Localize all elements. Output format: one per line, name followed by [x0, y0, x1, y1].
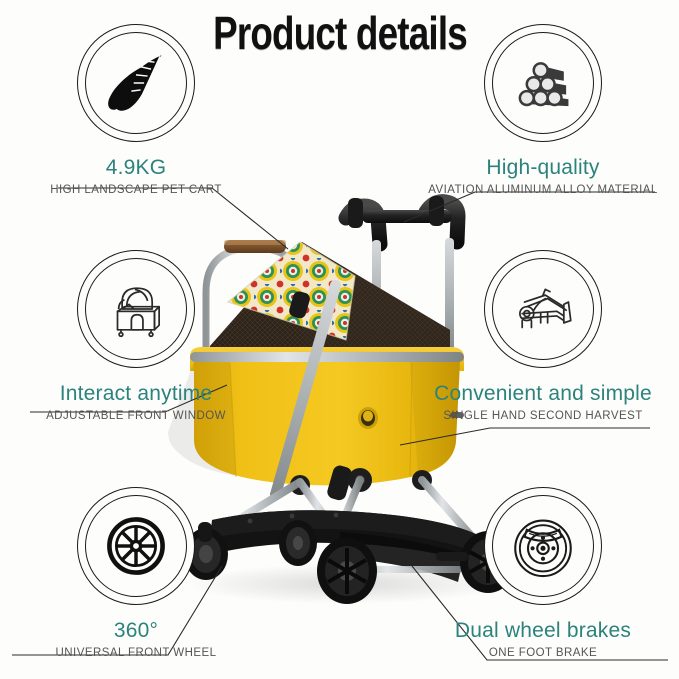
folded-stroller-icon [506, 272, 580, 346]
feature-fold-title: Convenient and simple [423, 382, 663, 406]
feature-weight-title: 4.9KG [16, 156, 256, 180]
feature-wheel-subtitle: UNIVERSAL FRONT WHEEL [16, 647, 256, 659]
feature-interact-subtitle: ADJUSTABLE FRONT WINDOW [16, 410, 256, 422]
feature-weight-subtitle: HIGH LANDSCAPE PET CART [16, 184, 256, 196]
brake-disc-icon [506, 509, 580, 583]
feature-quality-subtitle: AVIATION ALUMINUM ALLOY MATERIAL [423, 184, 663, 196]
feature-fold: Convenient and simple SINGLE HAND SECOND… [423, 250, 663, 422]
feature-wheel-title: 360° [16, 619, 256, 643]
feature-brake-subtitle: ONE FOOT BRAKE [423, 647, 663, 659]
brake-disc-icon-circle [484, 487, 602, 605]
leader-line-weight [58, 188, 288, 249]
page-title-wrap: Product details [140, 6, 540, 60]
feature-quality-title: High-quality [423, 156, 663, 180]
feature-interact-title: Interact anytime [16, 382, 256, 406]
feature-fold-subtitle: SINGLE HAND SECOND HARVEST [423, 410, 663, 422]
pet-carrier-window-icon-circle [77, 250, 195, 368]
feature-brake-title: Dual wheel brakes [423, 619, 663, 643]
feature-interact: Interact anytime ADJUSTABLE FRONT WINDOW [16, 250, 256, 422]
spoked-wheel-icon-circle [77, 487, 195, 605]
page-title: Product details [180, 6, 500, 60]
leader-line-quality [404, 192, 655, 222]
feature-wheel: 360° UNIVERSAL FRONT WHEEL [16, 487, 256, 659]
leader-line-fold [400, 428, 650, 445]
spoked-wheel-icon [99, 509, 173, 583]
feature-brake: Dual wheel brakes ONE FOOT BRAKE [423, 487, 663, 659]
folded-stroller-icon-circle [484, 250, 602, 368]
pet-carrier-window-icon [99, 272, 173, 346]
